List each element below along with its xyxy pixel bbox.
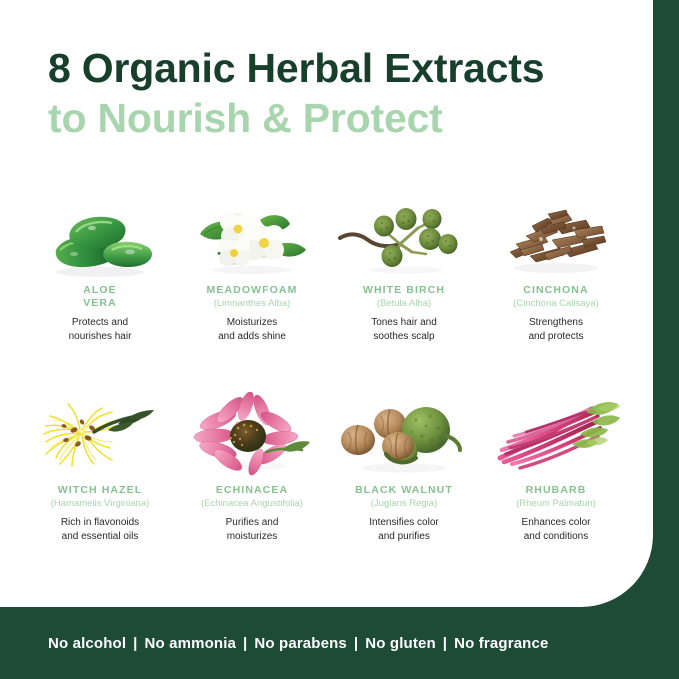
ingredient-card-echinacea: ECHINACEA (Echinacea Angustifolia) Purif…: [176, 392, 328, 544]
ingredient-name: ALOE VERA: [83, 284, 117, 311]
ingredient-desc-line1: Strengthens: [529, 317, 583, 328]
claim-no-alcohol: No alcohol: [48, 635, 126, 652]
claim-separator: |: [236, 635, 254, 652]
white-birch-icon: [334, 192, 474, 278]
footer-claims-band: No alcohol|No ammonia|No parabens|No glu…: [0, 607, 679, 679]
claim-separator: |: [436, 635, 454, 652]
echinacea-icon: [182, 392, 322, 478]
aloe-vera-icon: [30, 192, 170, 278]
ingredient-card-aloe-vera: ALOE VERA Protects and nourishes hair: [24, 192, 176, 344]
footer-claims-text: No alcohol|No ammonia|No parabens|No glu…: [48, 635, 548, 652]
ingredient-latin-name: (Cinchona Calisaya): [513, 298, 599, 310]
claim-no-parabens: No parabens: [254, 635, 347, 652]
ingredient-card-white-birch: WHITE BIRCH (Betula Alba) Tones hair and…: [328, 192, 480, 344]
ingredient-desc-line1: Tones hair and: [371, 317, 437, 328]
claim-no-gluten: No gluten: [365, 635, 436, 652]
ingredient-latin-name: (Hamamelis Virginiana): [51, 498, 150, 510]
ingredient-name: RHUBARB: [526, 484, 587, 497]
ingredient-description: Protects and nourishes hair: [69, 316, 132, 344]
ingredient-latin-name: (Juglans Regia): [371, 498, 438, 510]
cinchona-bark-icon: [486, 192, 626, 278]
ingredient-desc-line2: and purifies: [378, 531, 430, 542]
ingredient-desc-line2: and conditions: [524, 531, 589, 542]
ingredient-name-line2: VERA: [83, 297, 117, 309]
rhubarb-icon: [486, 392, 626, 478]
ingredient-description: Rich in flavonoids and essential oils: [61, 516, 139, 544]
claim-separator: |: [126, 635, 144, 652]
ingredient-desc-line2: and protects: [528, 331, 583, 342]
ingredient-name: WHITE BIRCH: [363, 284, 445, 297]
headline-primary: 8 Organic Herbal Extracts: [48, 44, 628, 92]
ingredient-desc-line2: soothes scalp: [373, 331, 434, 342]
ingredient-name: MEADOWFOAM: [207, 284, 298, 297]
ingredient-name: WITCH HAZEL: [58, 484, 142, 497]
ingredient-name: BLACK WALNUT: [355, 484, 453, 497]
ingredient-latin-name: (Echinacea Angustifolia): [201, 498, 303, 510]
ingredient-latin-name: (Betula Alba): [377, 298, 431, 310]
ingredient-name: CINCHONA: [523, 284, 588, 297]
ingredient-card-meadowfoam: MEADOWFOAM (Limnanthes Alba) Moisturizes…: [176, 192, 328, 344]
ingredient-description: Tones hair and soothes scalp: [371, 316, 437, 344]
ingredient-desc-line1: Protects and: [72, 317, 128, 328]
ingredient-latin-name: (Limnanthes Alba): [214, 298, 291, 310]
ingredient-description: Moisturizes and adds shine: [218, 316, 286, 344]
ingredient-desc-line1: Intensifies color: [369, 517, 438, 528]
witch-hazel-icon: [30, 392, 170, 478]
ingredient-description: Enhances color and conditions: [522, 516, 591, 544]
headline-secondary: to Nourish & Protect: [48, 94, 628, 142]
ingredient-desc-line2: and essential oils: [62, 531, 139, 542]
infographic-page: 8 Organic Herbal Extracts to Nourish & P…: [0, 0, 679, 679]
ingredient-desc-line2: nourishes hair: [69, 331, 132, 342]
ingredient-description: Strengthens and protects: [528, 316, 583, 344]
ingredient-desc-line1: Enhances color: [522, 517, 591, 528]
black-walnut-icon: [334, 392, 474, 478]
ingredient-desc-line2: and adds shine: [218, 331, 286, 342]
ingredient-desc-line1: Purifies and: [226, 517, 279, 528]
ingredient-desc-line2: moisturizes: [227, 531, 278, 542]
claim-no-fragrance: No fragrance: [454, 635, 548, 652]
ingredient-card-black-walnut: BLACK WALNUT (Juglans Regia) Intensifies…: [328, 392, 480, 544]
claim-separator: |: [347, 635, 365, 652]
ingredient-card-rhubarb: RHUBARB (Rheum Palmatun) Enhances color …: [480, 392, 632, 544]
ingredient-latin-name: (Rheum Palmatun): [516, 498, 596, 510]
ingredient-name: ECHINACEA: [216, 484, 288, 497]
ingredient-description: Purifies and moisturizes: [226, 516, 279, 544]
ingredient-row-2: WITCH HAZEL (Hamamelis Virginiana) Rich …: [24, 392, 632, 544]
claim-no-ammonia: No ammonia: [145, 635, 237, 652]
page-title: 8 Organic Herbal Extracts to Nourish & P…: [48, 44, 628, 143]
ingredient-name-line1: ALOE: [83, 284, 117, 296]
ingredient-card-cinchona: CINCHONA (Cinchona Calisaya) Strengthens…: [480, 192, 632, 344]
ingredient-description: Intensifies color and purifies: [369, 516, 438, 544]
meadowfoam-flower-icon: [182, 192, 322, 278]
ingredient-card-witch-hazel: WITCH HAZEL (Hamamelis Virginiana) Rich …: [24, 392, 176, 544]
ingredient-row-1: ALOE VERA Protects and nourishes hair: [24, 192, 632, 344]
ingredient-desc-line1: Rich in flavonoids: [61, 517, 139, 528]
ingredient-desc-line1: Moisturizes: [227, 317, 278, 328]
